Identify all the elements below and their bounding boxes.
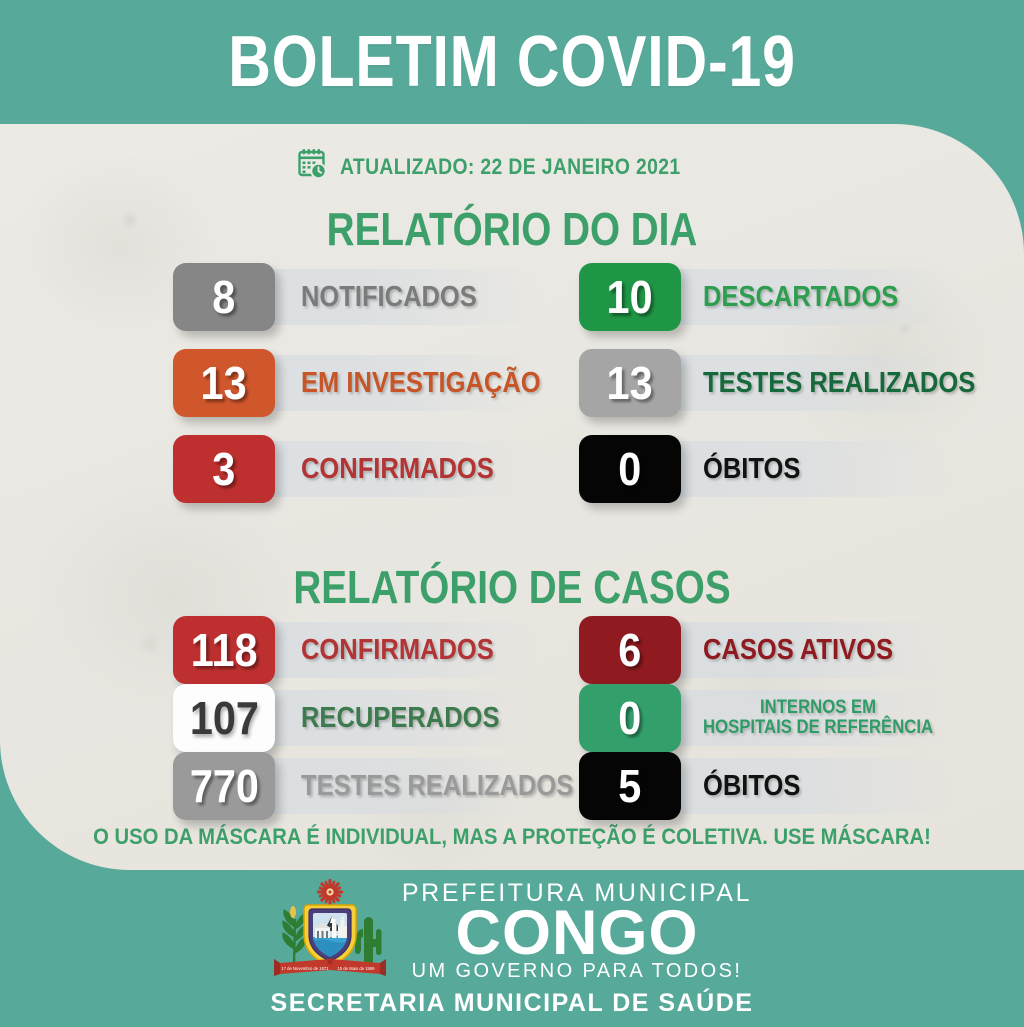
stat-badge: 770 [173,752,275,820]
stat-row: 107 RECUPERADOS 0 INTERNOS EMHOSPITAIS D… [0,684,1024,752]
stat-badge: 6 [579,616,681,684]
stat-label: TESTES REALIZADOS [703,368,975,398]
stat-row: 8 NOTIFICADOS 10 DESCARTADOS [0,254,1024,340]
stat-value: 770 [189,763,258,809]
stat-badge: 0 [579,684,681,752]
daily-report-grid: 8 NOTIFICADOS 10 DESCARTADOS 13 EM INVES… [0,254,1024,512]
stat-cell-em-investigacao: 13 EM INVESTIGAÇÃO [0,340,512,426]
stat-label: RECUPERADOS [301,703,500,733]
footer-department: SECRETARIA MUNICIPAL DE SAÚDE [271,989,754,1018]
congo-coat-of-arms-icon: 17 de Novembro de 1871 15 de Maio de 195… [272,879,388,983]
stat-label: ÓBITOS [703,771,800,801]
stat-cell-recuperados: 107 RECUPERADOS [0,684,512,752]
stat-value: 10 [607,274,653,320]
svg-text:15 de Maio de 1959: 15 de Maio de 1959 [337,966,375,971]
stat-row: 13 EM INVESTIGAÇÃO 13 TESTES REALIZADOS [0,340,1024,426]
content-panel: ATUALIZADO: 22 DE JANEIRO 2021 RELATÓRIO… [0,124,1024,870]
stat-value: 13 [607,360,653,406]
stat-cell-testes-realizados-total: 770 TESTES REALIZADOS [0,752,512,820]
mask-slogan: O USO DA MÁSCARA É INDIVIDUAL, MAS A PRO… [41,824,983,850]
stat-row: 770 TESTES REALIZADOS 5 ÓBITOS [0,752,1024,820]
stat-value: 13 [201,360,247,406]
stat-label: ÓBITOS [703,454,800,484]
section-title-daily: RELATÓRIO DO DIA [82,206,942,252]
updated-text: ATUALIZADO: 22 DE JANEIRO 2021 [340,154,680,180]
stat-label: CONFIRMADOS [301,454,494,484]
stat-value: 118 [191,627,258,673]
stat-badge: 3 [173,435,275,503]
updated-row: ATUALIZADO: 22 DE JANEIRO 2021 [0,148,1024,185]
stat-row: 118 CONFIRMADOS 6 CASOS ATIVOS [0,616,1024,684]
stat-value: 3 [212,446,235,492]
stat-cell-confirmados-total: 118 CONFIRMADOS [0,616,512,684]
stat-label: EM INVESTIGAÇÃO [301,368,541,398]
stat-label: NOTIFICADOS [301,282,477,312]
footer-brand: 17 de Novembro de 1871 15 de Maio de 195… [272,879,752,983]
stat-value: 8 [212,274,235,320]
stat-value: 6 [618,627,641,673]
stat-cell-descartados: 10 DESCARTADOS [512,254,1024,340]
stat-value: 107 [189,695,258,741]
svg-text:17 de Novembro de 1871: 17 de Novembro de 1871 [281,966,329,971]
stat-value: 5 [618,763,641,809]
wordmark: PREFEITURA MUNICIPAL CONGO UM GOVERNO PA… [402,881,752,981]
stat-badge: 107 [173,684,275,752]
cases-report-grid: 118 CONFIRMADOS 6 CASOS ATIVOS 107 RECUP… [0,616,1024,820]
stat-cell-obitos-total: 5 ÓBITOS [512,752,1024,820]
stat-cell-testes-realizados: 13 TESTES REALIZADOS [512,340,1024,426]
stat-label: DESCARTADOS [703,282,898,312]
stat-badge: 118 [173,616,275,684]
stat-badge: 13 [579,349,681,417]
wordmark-slogan: UM GOVERNO PARA TODOS! [412,961,743,981]
stat-value: 0 [618,446,641,492]
stat-cell-internos: 0 INTERNOS EMHOSPITAIS DE REFERÊNCIA [512,684,1024,752]
stat-label: CASOS ATIVOS [703,635,893,665]
stat-cell-casos-ativos: 6 CASOS ATIVOS [512,616,1024,684]
section-title-cases: RELATÓRIO DE CASOS [82,564,942,610]
stat-label: INTERNOS EMHOSPITAIS DE REFERÊNCIA [703,698,933,738]
header-band: BOLETIM COVID-19 [0,0,1024,124]
stat-cell-confirmados: 3 CONFIRMADOS [0,426,512,512]
calendar-clock-icon [298,148,328,185]
stat-badge: 13 [173,349,275,417]
wordmark-congo: CONGO [455,902,698,965]
stat-badge: 8 [173,263,275,331]
stat-row: 3 CONFIRMADOS 0 ÓBITOS [0,426,1024,512]
page-title: BOLETIM COVID-19 [228,26,795,98]
stat-badge: 5 [579,752,681,820]
stat-label: TESTES REALIZADOS [301,771,573,801]
stat-cell-notificados: 8 NOTIFICADOS [0,254,512,340]
footer-band: 17 de Novembro de 1871 15 de Maio de 195… [0,870,1024,1027]
stat-value: 0 [618,695,641,741]
stat-label: CONFIRMADOS [301,635,494,665]
stat-cell-obitos: 0 ÓBITOS [512,426,1024,512]
stat-badge: 10 [579,263,681,331]
stat-badge: 0 [579,435,681,503]
